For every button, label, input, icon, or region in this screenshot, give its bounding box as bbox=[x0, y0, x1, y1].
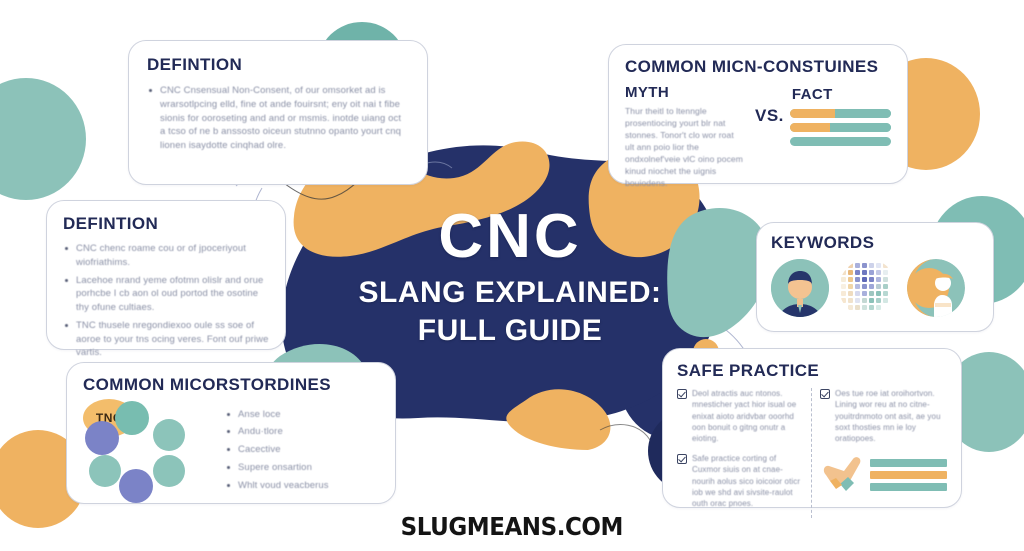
list-item: Supere onsartion bbox=[225, 461, 379, 475]
card-common-misconceptions-heading: COMMON MICORSTORDINES bbox=[83, 375, 379, 395]
fact-column: VS. FACT bbox=[755, 84, 891, 146]
card-definition-top-list: CNC Cnsensual Non-Consent, of our omsork… bbox=[147, 84, 409, 153]
list-item: Deol atractis auc ntonos. mnesticher yac… bbox=[677, 388, 804, 445]
cluster-node-bottom-right bbox=[153, 455, 185, 487]
person-avatar-icon bbox=[771, 259, 829, 317]
dot-grid-icon bbox=[839, 259, 897, 317]
card-misconceptions-heading: COMMON MICN-CONSTUINES bbox=[625, 57, 891, 77]
card-safe-practice-heading: SAFE PRACTICE bbox=[677, 361, 947, 381]
list-item: TNC thusele nregondiexoo oule ss soe of … bbox=[63, 319, 269, 360]
cluster-node-left bbox=[85, 421, 119, 455]
safe-practice-left-column: Deol atractis auc ntonos. mnesticher yac… bbox=[677, 388, 812, 518]
checkbox-checked-icon[interactable] bbox=[677, 454, 687, 464]
fact-bar bbox=[790, 137, 891, 146]
title-line-main: CNC bbox=[300, 205, 720, 268]
cluster-node-top bbox=[115, 401, 149, 435]
list-item: Lacehoe nrand yeme ofotmn olislr and oru… bbox=[63, 274, 269, 315]
illustration-bar bbox=[870, 459, 947, 467]
fact-bar bbox=[790, 109, 891, 118]
card-keywords-heading: KEYWORDS bbox=[771, 233, 979, 253]
page-title: CNC SLANG EXPLAINED: FULL GUIDE bbox=[300, 205, 720, 349]
fact-bar bbox=[790, 123, 891, 132]
card-common-misconceptions-list: Anse loce Andu·tlore Cacective Supere on… bbox=[211, 408, 379, 497]
card-definition-left-list: CNC chenc roame cou or of jpoceriyout wi… bbox=[63, 242, 269, 360]
list-item: Andu·tlore bbox=[225, 425, 379, 439]
infographic-canvas: CNC SLANG EXPLAINED: FULL GUIDE DEFINTIO… bbox=[0, 0, 1024, 551]
card-common-misconceptions: COMMON MICORSTORDINES TNC Anse loce Andu… bbox=[66, 362, 396, 504]
tnc-cluster-diagram: TNC bbox=[83, 399, 203, 505]
safe-practice-illustration bbox=[820, 453, 947, 498]
safe-practice-columns: Deol atractis auc ntonos. mnesticher yac… bbox=[677, 388, 947, 518]
footer: SLUGMEANS.COM bbox=[0, 510, 1024, 543]
title-line-sub-1: SLANG EXPLAINED: bbox=[300, 274, 720, 312]
list-item: Anse loce bbox=[225, 408, 379, 422]
card-misconceptions-top: COMMON MICN-CONSTUINES MYTH Thur theitl … bbox=[608, 44, 908, 184]
card-safe-practice: SAFE PRACTICE Deol atractis auc ntonos. … bbox=[662, 348, 962, 508]
fact-label: FACT bbox=[792, 86, 891, 103]
list-item: CNC chenc roame cou or of jpoceriyout wi… bbox=[63, 242, 269, 270]
illustration-bar-group bbox=[870, 459, 947, 491]
myth-text: Thur theitl to ltenngle prosentiocing yo… bbox=[625, 105, 745, 189]
check-label: Deol atractis auc ntonos. mnesticher yac… bbox=[692, 388, 804, 445]
figure-silhouette-icon bbox=[907, 259, 965, 317]
card-definition-top: DEFINTION CNC Cnsensual Non-Consent, of … bbox=[128, 40, 428, 185]
keyword-icon-row bbox=[771, 259, 979, 317]
myth-fact-row: MYTH Thur theitl to ltenngle prosentioci… bbox=[625, 84, 891, 189]
brand-watermark: SLUGMEANS.COM bbox=[388, 510, 636, 543]
vs-label: VS. bbox=[755, 106, 784, 126]
checkbox-checked-icon[interactable] bbox=[820, 389, 830, 399]
card-definition-top-heading: DEFINTION bbox=[147, 55, 409, 75]
list-item: Oes tue roe iat oroihortvon. Lining wor … bbox=[820, 388, 947, 445]
cluster-node-bottom-left bbox=[89, 455, 121, 487]
cluster-node-bottom bbox=[119, 469, 153, 503]
fact-bar-chart bbox=[790, 109, 891, 146]
safe-practice-right-column: Oes tue roe iat oroihortvon. Lining wor … bbox=[820, 388, 947, 518]
check-label: Oes tue roe iat oroihortvon. Lining wor … bbox=[835, 388, 947, 445]
list-item: Whlt voud veacberus bbox=[225, 479, 379, 493]
myth-label: MYTH bbox=[625, 84, 745, 101]
illustration-bar bbox=[870, 483, 947, 491]
myth-column: MYTH Thur theitl to ltenngle prosentioci… bbox=[625, 84, 745, 189]
card-definition-left: DEFINTION CNC chenc roame cou or of jpoc… bbox=[46, 200, 286, 350]
cluster-node-top-right bbox=[153, 419, 185, 451]
card-definition-left-heading: DEFINTION bbox=[63, 214, 269, 234]
check-label: Safe practice corting of Cuxmor siuis on… bbox=[692, 453, 804, 510]
card-keywords: KEYWORDS bbox=[756, 222, 994, 332]
list-item: CNC Cnsensual Non-Consent, of our omsork… bbox=[147, 84, 409, 153]
list-item: Cacective bbox=[225, 443, 379, 457]
hand-pointer-icon bbox=[820, 453, 864, 498]
list-item: Safe practice corting of Cuxmor siuis on… bbox=[677, 453, 804, 510]
title-line-sub-2: FULL GUIDE bbox=[300, 312, 720, 350]
card-common-body: TNC Anse loce Andu·tlore Cacective Super… bbox=[83, 399, 379, 505]
illustration-bar bbox=[870, 471, 947, 479]
checkbox-checked-icon[interactable] bbox=[677, 389, 687, 399]
